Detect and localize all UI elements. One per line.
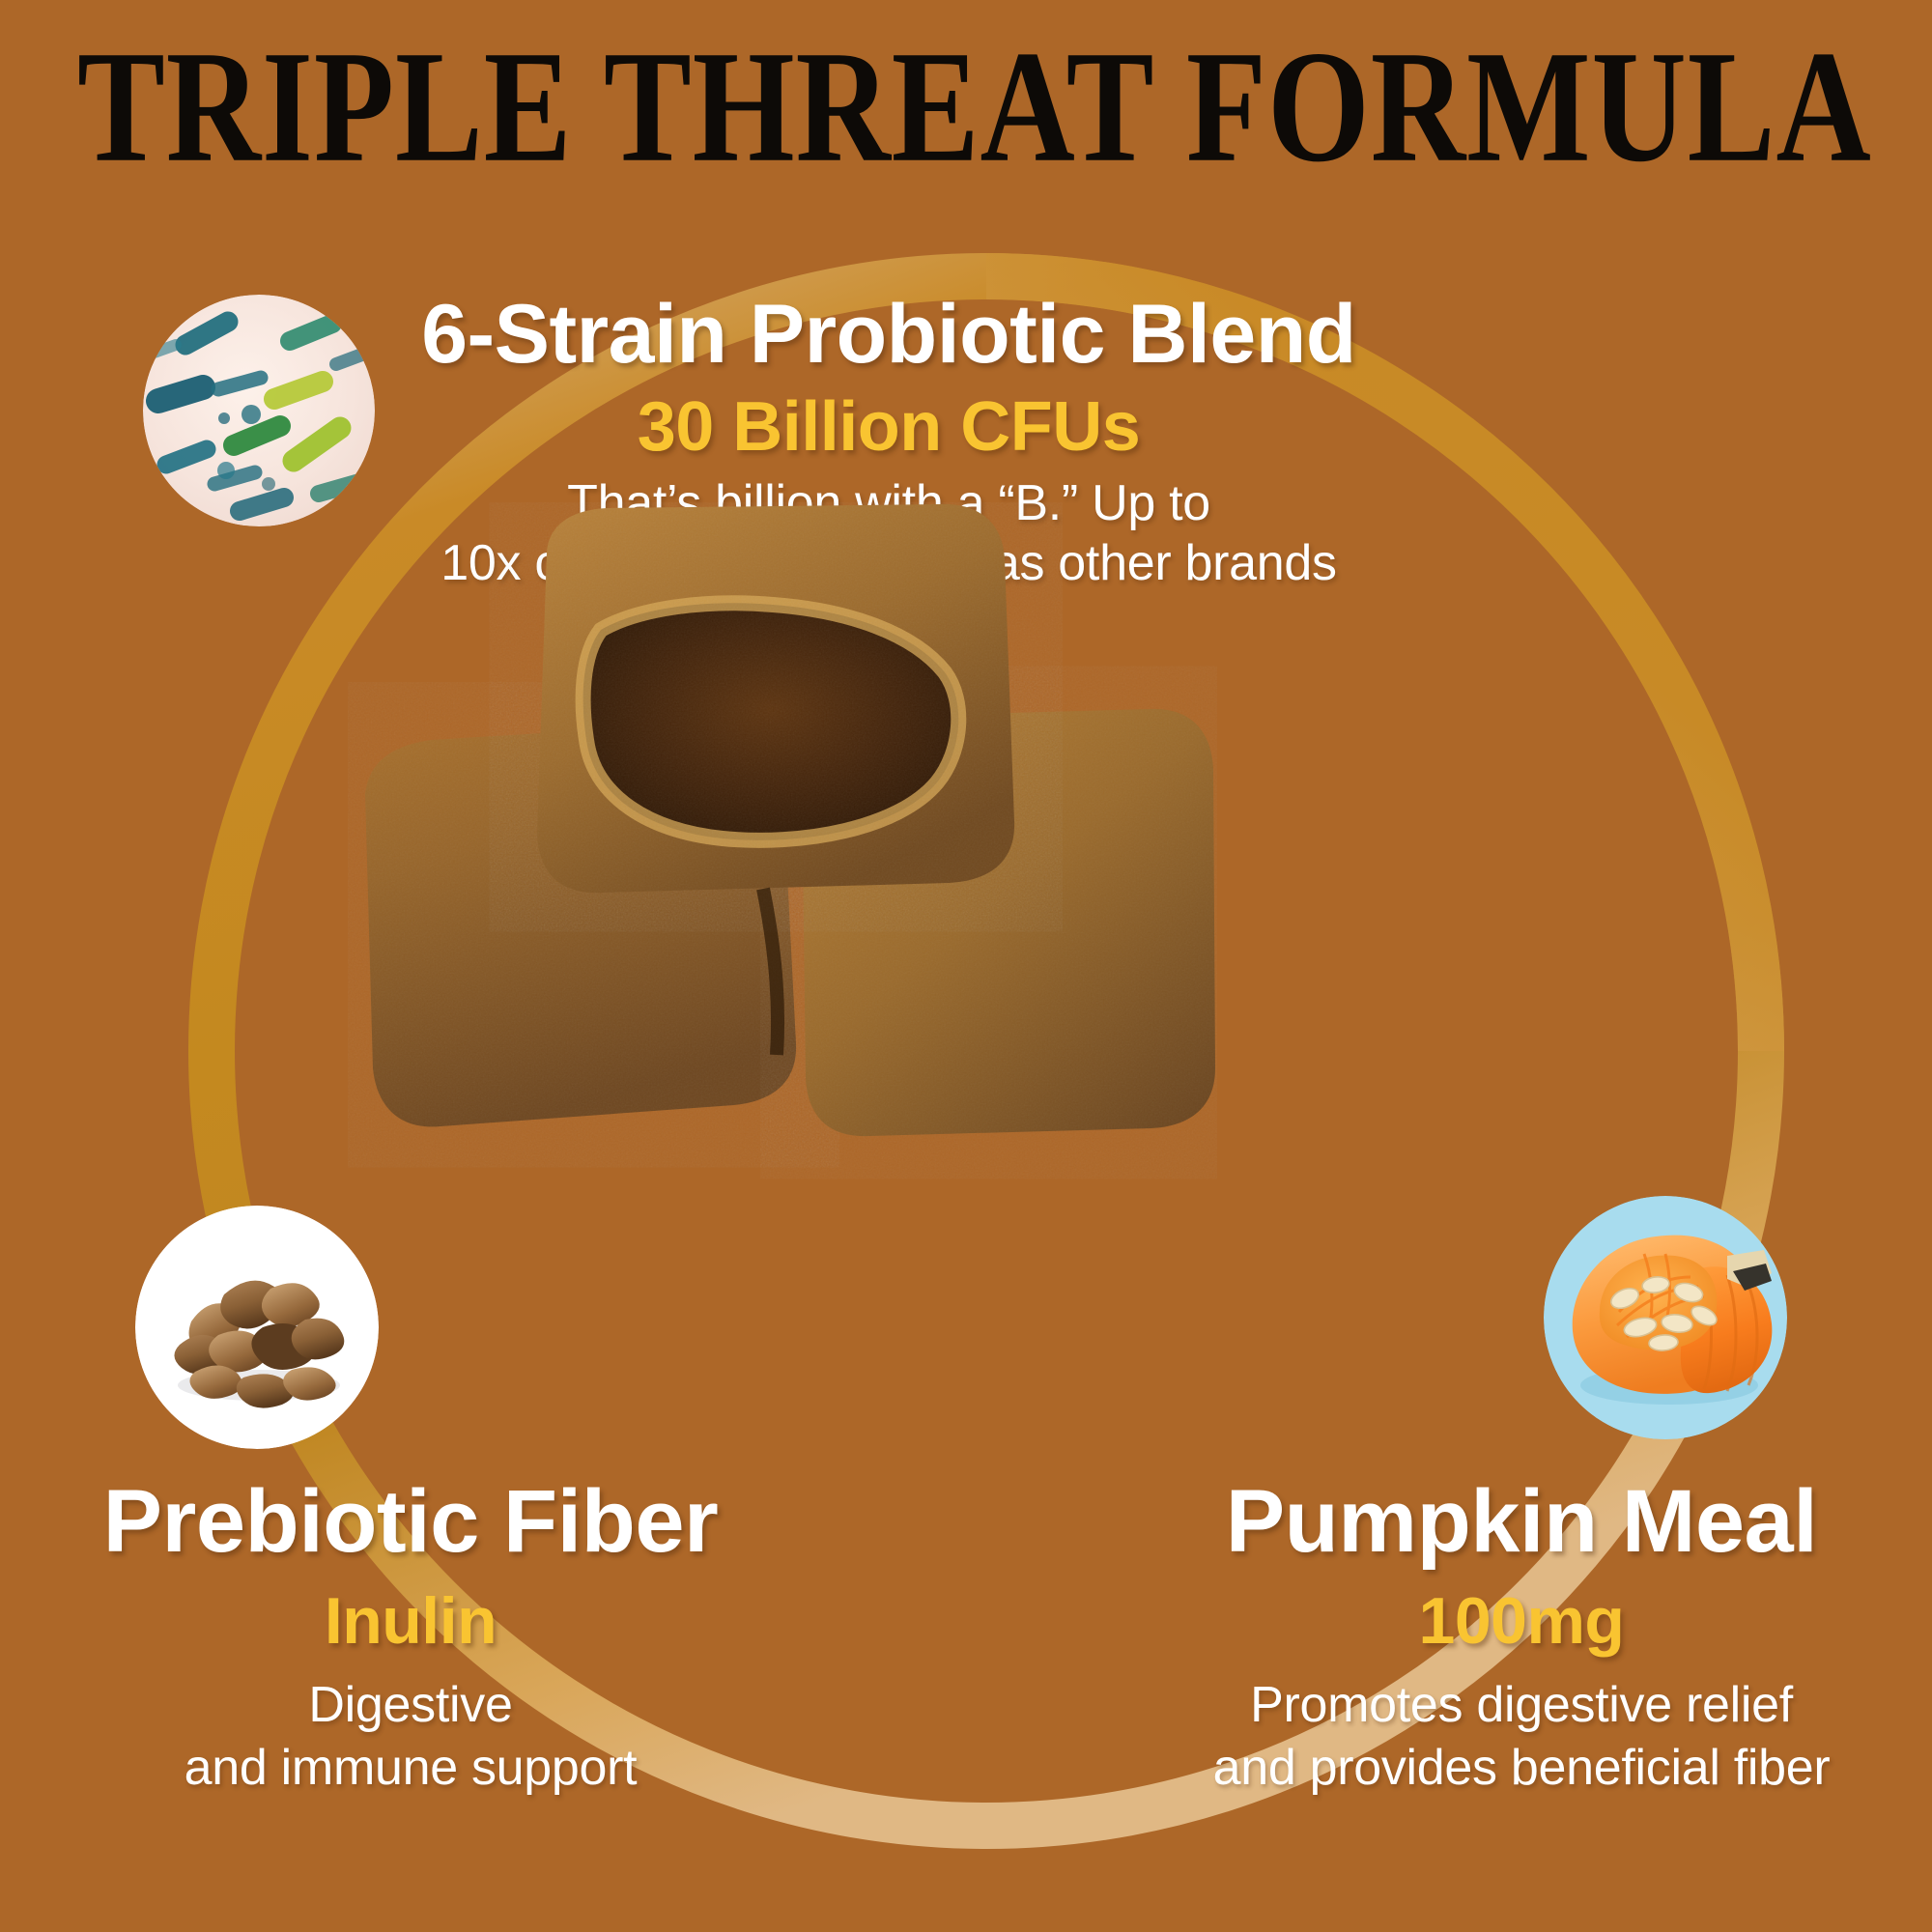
pumpkin-meal-description-line-1: Promotes digestive relief	[1111, 1674, 1932, 1737]
dog-treat-chews-photo	[348, 502, 1217, 1217]
pumpkin-meal-description-line-2: and provides beneficial fiber	[1111, 1737, 1932, 1800]
pumpkin-meal-section: Pumpkin Meal 100mg Promotes digestive re…	[1111, 1476, 1932, 1800]
pumpkin-slice-icon	[1544, 1196, 1787, 1439]
probiotic-title: 6-Strain Probiotic Blend	[270, 292, 1507, 378]
prebiotic-fiber-description: Digestive and immune support	[0, 1674, 821, 1800]
pumpkin-meal-description: Promotes digestive relief and provides b…	[1111, 1674, 1932, 1800]
pumpkin-meal-title: Pumpkin Meal	[1111, 1476, 1932, 1569]
page-title: TRIPLE THREAT FORMULA	[77, 27, 1855, 187]
infographic-canvas: TRIPLE THREAT FORMULA	[0, 0, 1932, 1932]
prebiotic-fiber-amount: Inulin	[0, 1582, 821, 1662]
chicory-root-icon	[135, 1206, 379, 1449]
prebiotic-fiber-description-line-2: and immune support	[0, 1737, 821, 1800]
prebiotic-fiber-section: Prebiotic Fiber Inulin Digestive and imm…	[0, 1476, 821, 1800]
prebiotic-fiber-title: Prebiotic Fiber	[0, 1476, 821, 1569]
probiotic-amount: 30 Billion CFUs	[270, 385, 1507, 470]
prebiotic-fiber-description-line-1: Digestive	[0, 1674, 821, 1737]
pumpkin-meal-amount: 100mg	[1111, 1582, 1932, 1662]
